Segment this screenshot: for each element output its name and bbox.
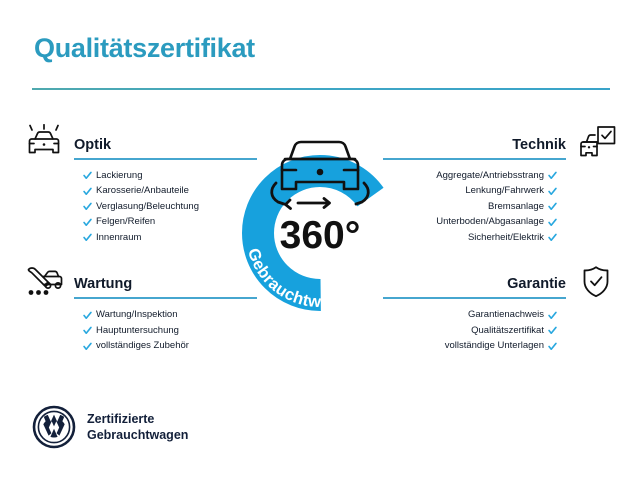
title-divider — [32, 88, 610, 90]
list-item-label: Lenkung/Fahrwerk — [465, 184, 544, 197]
section-garantie-list: Garantienachweis Qualitätszertifikat vol… — [383, 308, 618, 352]
check-icon — [83, 311, 92, 320]
left-column: Optik Lackierung Karosserie/Anbauteile — [22, 124, 257, 355]
check-icon — [548, 326, 557, 335]
check-icon — [548, 233, 557, 242]
list-item-label: Felgen/Reifen — [96, 215, 155, 228]
check-icon — [83, 342, 92, 351]
check-icon — [548, 218, 557, 227]
list-item-label: Aggregate/Antriebsstrang — [436, 169, 544, 182]
list-item-label: Qualitätszertifikat — [471, 324, 544, 337]
list-item-label: vollständiges Zubehör — [96, 339, 189, 352]
list-item: Hauptuntersuchung — [83, 324, 257, 337]
footer-brand: Zertifizierte Gebrauchtwagen — [32, 405, 188, 449]
list-item: vollständige Unterlagen — [383, 339, 557, 352]
section-wartung-list: Wartung/Inspektion Hauptuntersuchung vol… — [22, 308, 257, 352]
check-icon — [83, 202, 92, 211]
list-item: Qualitätszertifikat — [383, 324, 557, 337]
section-garantie-header: Garantie — [383, 263, 618, 301]
gebrauchtwagen-check-badge: 360° Gebrauchtwagen-Check — [228, 115, 412, 315]
check-icon — [548, 202, 557, 211]
list-item-label: vollständige Unterlagen — [445, 339, 544, 352]
section-garantie: Garantie Garantienachweis Qualitätszerti… — [383, 263, 618, 352]
section-technik: Technik Aggregate/Antriebsstrang Lenkung… — [383, 124, 618, 244]
car-checkbox-icon — [574, 124, 618, 162]
list-item: vollständiges Zubehör — [83, 339, 257, 352]
wrench-car-icon — [22, 263, 66, 301]
list-item-label: Innenraum — [96, 231, 141, 244]
section-wartung-header: Wartung — [22, 263, 257, 301]
check-icon — [83, 326, 92, 335]
check-icon — [83, 218, 92, 227]
list-item-label: Verglasung/Beleuchtung — [96, 200, 199, 213]
section-technik-list: Aggregate/Antriebsstrang Lenkung/Fahrwer… — [383, 169, 618, 244]
volkswagen-logo — [32, 405, 76, 449]
section-optik: Optik Lackierung Karosserie/Anbauteile — [22, 124, 257, 244]
section-technik-header: Technik — [383, 124, 618, 162]
footer-line-1: Zertifizierte — [87, 411, 188, 427]
certificate-page: Qualitätszertifikat Optik — [0, 0, 640, 480]
check-icon — [548, 187, 557, 196]
list-item-label: Karosserie/Anbauteile — [96, 184, 189, 197]
section-optik-header: Optik — [22, 124, 257, 162]
page-title: Qualitätszertifikat — [34, 33, 255, 64]
check-icon — [548, 311, 557, 320]
right-column: Technik Aggregate/Antriebsstrang Lenkung… — [383, 124, 618, 355]
badge-center-label: 360° — [280, 214, 361, 257]
list-item-label: Hauptuntersuchung — [96, 324, 179, 337]
check-icon — [548, 342, 557, 351]
list-item-label: Lackierung — [96, 169, 142, 182]
check-icon — [83, 187, 92, 196]
check-icon — [83, 171, 92, 180]
list-item-label: Unterboden/Abgasanlage — [436, 215, 544, 228]
footer-line-2: Gebrauchtwagen — [87, 427, 188, 443]
list-item-label: Wartung/Inspektion — [96, 308, 178, 321]
list-item-label: Bremsanlage — [488, 200, 544, 213]
check-icon — [83, 233, 92, 242]
list-item-label: Garantienachweis — [468, 308, 544, 321]
list-item-label: Sicherheit/Elektrik — [468, 231, 544, 244]
section-wartung: Wartung Wartung/Inspektion Hauptuntersuc… — [22, 263, 257, 352]
shield-check-icon — [574, 263, 618, 301]
footer-brand-text: Zertifizierte Gebrauchtwagen — [87, 411, 188, 443]
check-icon — [548, 171, 557, 180]
car-shine-icon — [22, 124, 66, 162]
section-optik-list: Lackierung Karosserie/Anbauteile Verglas… — [22, 169, 257, 244]
